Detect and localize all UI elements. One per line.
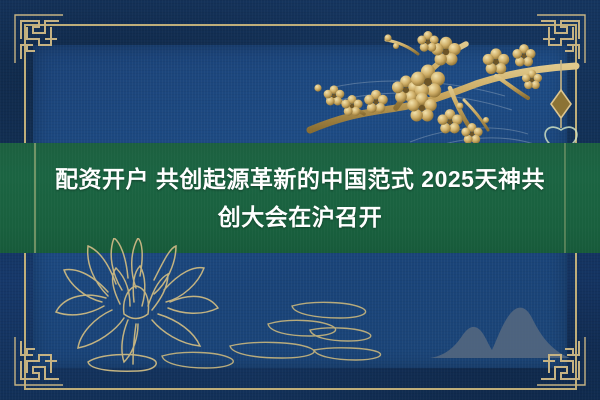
gold-frame-bottom-line xyxy=(24,388,576,390)
meander-corner-top-right-icon xyxy=(537,11,589,63)
gold-frame-top-line xyxy=(24,24,576,26)
promotional-banner: 配资开户 共创起源革新的中国范式 2025天神共 创大会在沪召开 xyxy=(0,0,600,400)
page-title-line-1: 配资开户 共创起源革新的中国范式 2025天神共 xyxy=(55,160,545,198)
meander-corner-bottom-right-icon xyxy=(537,337,589,389)
meander-corner-top-left-icon xyxy=(11,11,63,63)
page-title: 配资开户 共创起源革新的中国范式 2025天神共 创大会在沪召开 xyxy=(0,143,600,253)
meander-corner-bottom-left-icon xyxy=(11,337,63,389)
page-title-line-2: 创大会在沪召开 xyxy=(218,198,383,236)
